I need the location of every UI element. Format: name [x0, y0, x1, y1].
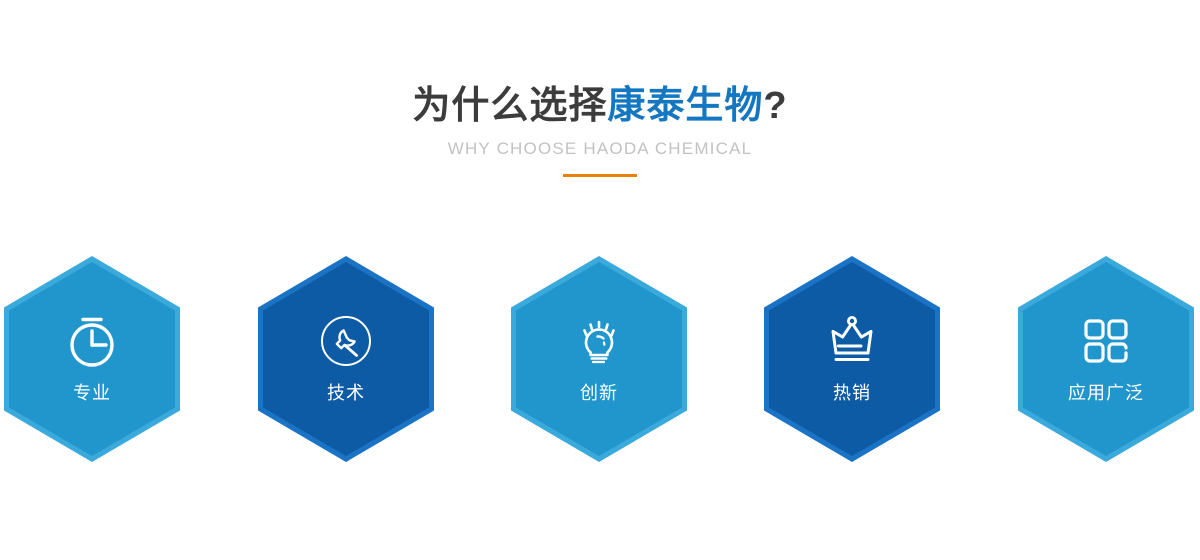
feature-hexagon-professional[interactable]: 专业 [4, 256, 180, 462]
hexagon-content: 应用广泛 [1018, 256, 1194, 462]
grid-squares-icon [1078, 313, 1134, 369]
why-choose-us-section: 为什么选择康泰生物? WHY CHOOSE HAODA CHEMICAL 专业 [0, 0, 1200, 560]
page-title: 为什么选择康泰生物? [0, 82, 1200, 130]
hexagon-content: 专业 [4, 256, 180, 462]
title-accent-text: 康泰生物 [607, 85, 763, 127]
hexagon-content: 热销 [764, 256, 940, 462]
lightbulb-icon [571, 313, 627, 369]
feature-hexagon-wide-application[interactable]: 应用广泛 [1018, 256, 1194, 462]
stopwatch-icon [64, 313, 120, 369]
hexagon-content: 创新 [511, 256, 687, 462]
wrench-circle-icon [318, 313, 374, 369]
title-question-mark: ? [763, 85, 787, 127]
feature-hexagon-innovation[interactable]: 创新 [511, 256, 687, 462]
section-header: 为什么选择康泰生物? WHY CHOOSE HAODA CHEMICAL [0, 82, 1200, 177]
feature-hexagon-row: 专业 技术 [0, 256, 1200, 468]
title-divider [563, 174, 637, 177]
feature-hexagon-bestseller[interactable]: 热销 [764, 256, 940, 462]
feature-label: 热销 [833, 381, 871, 405]
section-subtitle: WHY CHOOSE HAODA CHEMICAL [0, 138, 1200, 160]
hexagon-content: 技术 [258, 256, 434, 462]
feature-label: 应用广泛 [1068, 381, 1144, 405]
feature-label: 专业 [73, 381, 111, 405]
crown-icon [824, 313, 880, 369]
title-plain-text: 为什么选择 [412, 85, 607, 127]
feature-label: 技术 [327, 381, 365, 405]
feature-hexagon-technology[interactable]: 技术 [258, 256, 434, 462]
feature-label: 创新 [580, 381, 618, 405]
